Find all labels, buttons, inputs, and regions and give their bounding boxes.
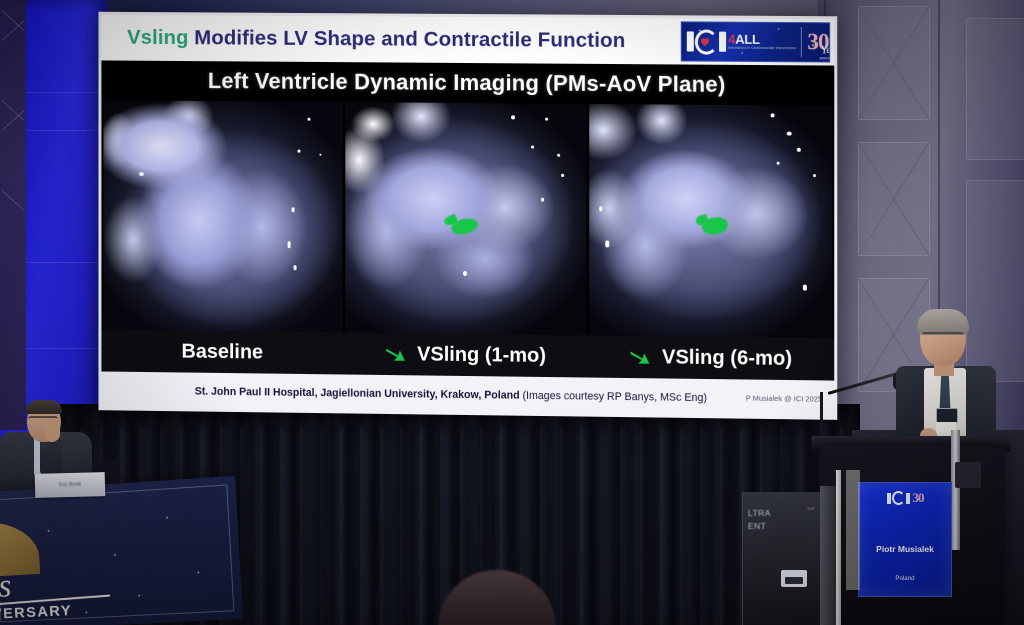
- slide-title-bar: Vsling Modifies LV Shape and Contractile…: [101, 15, 834, 66]
- ct-panel-vsling-1mo: [345, 102, 586, 335]
- caption-vsling-6mo: VSling (6-mo): [662, 346, 792, 371]
- speaker-badge: [936, 408, 958, 423]
- lectern-speaker-name: Piotr Musialek: [876, 544, 934, 554]
- desk-banner-anniversary: NIVERSARY: [0, 602, 73, 624]
- lectern-speaker-country: Poland: [895, 575, 914, 582]
- moderator-hand: [44, 420, 60, 442]
- caption-cell-vsling-6mo: VSling (6-mo): [588, 345, 834, 371]
- presentation-slide: Vsling Modifies LV Shape and Contractile…: [101, 15, 834, 417]
- conference-photo-scene: Vsling Modifies LV Shape and Contractile…: [0, 0, 1024, 625]
- moderator-name-card: Eric Brodt: [35, 472, 106, 498]
- ct-panel-baseline: [103, 100, 342, 332]
- moderator-name-card-text: Eric Brodt: [59, 482, 81, 489]
- light-panel: [846, 470, 860, 590]
- slide-title-highlight: Vsling: [127, 26, 188, 49]
- lectern-post: [951, 430, 960, 550]
- slide-footer: St. John Paul II Hospital, Jagiellonian …: [101, 371, 834, 416]
- wall-panel: [858, 142, 930, 256]
- case-label-line1: LTRA: [748, 508, 771, 518]
- logo-four: 4: [728, 32, 735, 47]
- anniversary-mark: 30 Years ANNIVERSARY: [807, 29, 828, 55]
- ici-conference-logo: 4ALL Innovations in Cardiovascular Inter…: [681, 21, 830, 62]
- panel-desk-banner: ars NIVERSARY: [0, 476, 243, 625]
- stage-truss: [0, 0, 26, 430]
- wall-panel-diagonal: [859, 143, 930, 256]
- slide-footer-attribution: St. John Paul II Hospital, Jagiellonian …: [101, 380, 745, 406]
- lectern-logo: 30: [887, 490, 924, 506]
- anniversary-word: Years: [821, 42, 830, 56]
- logo-all: ALL: [735, 32, 760, 47]
- speaker-glasses: [922, 332, 964, 343]
- slide-subtitle: Left Ventricle Dynamic Imaging (PMs-AoV …: [208, 68, 726, 98]
- wall-panel: [858, 6, 930, 120]
- logo-4all-block: 4ALL Innovations in Cardiovascular Inter…: [728, 33, 796, 51]
- moderator-hair: [26, 400, 62, 414]
- caption-cell-baseline: Baseline: [101, 339, 343, 365]
- case-side-rail: [820, 486, 836, 625]
- ct-image-baseline: [103, 100, 342, 332]
- caption-vsling-1mo: VSling (1-mo): [417, 343, 546, 368]
- stand-pole: [836, 470, 841, 625]
- case-label-line2: ENT: [748, 521, 766, 531]
- lectern-logo-number: 30: [913, 490, 924, 506]
- heart-icon: [699, 36, 711, 48]
- wall-panel-diagonal: [859, 7, 930, 120]
- arrow-down-right-icon: [385, 346, 406, 363]
- footer-image-credit: (Images courtesy RP Banys, MSc Eng): [520, 390, 707, 404]
- slide-title: Vsling Modifies LV Shape and Contractile…: [127, 26, 625, 53]
- footer-institution: St. John Paul II Hospital, Jagiellonian …: [195, 386, 520, 402]
- caption-baseline: Baseline: [182, 340, 264, 364]
- projection-screen: Vsling Modifies LV Shape and Contractile…: [98, 12, 837, 420]
- caption-cell-vsling-1mo: VSling (1-mo): [344, 342, 588, 368]
- wall-panel: [966, 18, 1024, 160]
- case-corner-label: TOP: [807, 506, 815, 511]
- slide-title-rest: Modifies LV Shape and Contractile Functi…: [189, 26, 626, 52]
- anniversary-sub: ANNIVERSARY: [819, 56, 830, 60]
- ct-panel-vsling-6mo: [589, 104, 832, 338]
- case-connector-plate: [781, 570, 807, 587]
- lectern-equipment-box: [955, 462, 981, 488]
- stage-equipment-case: LTRA ENT TOP: [742, 492, 821, 625]
- logo-tagline: Innovations in Cardiovascular Interventi…: [728, 47, 796, 51]
- lectern-name-display: 30 Piotr Musialek Poland: [858, 482, 952, 597]
- slide-subtitle-bar: Left Ventricle Dynamic Imaging (PMs-AoV …: [101, 60, 834, 105]
- logo-divider: [801, 27, 802, 57]
- arrow-down-right-icon: [630, 348, 651, 365]
- footer-presenter-credit: P Musialek @ ICI 2025: [746, 393, 826, 403]
- ct-image-row: [101, 100, 834, 338]
